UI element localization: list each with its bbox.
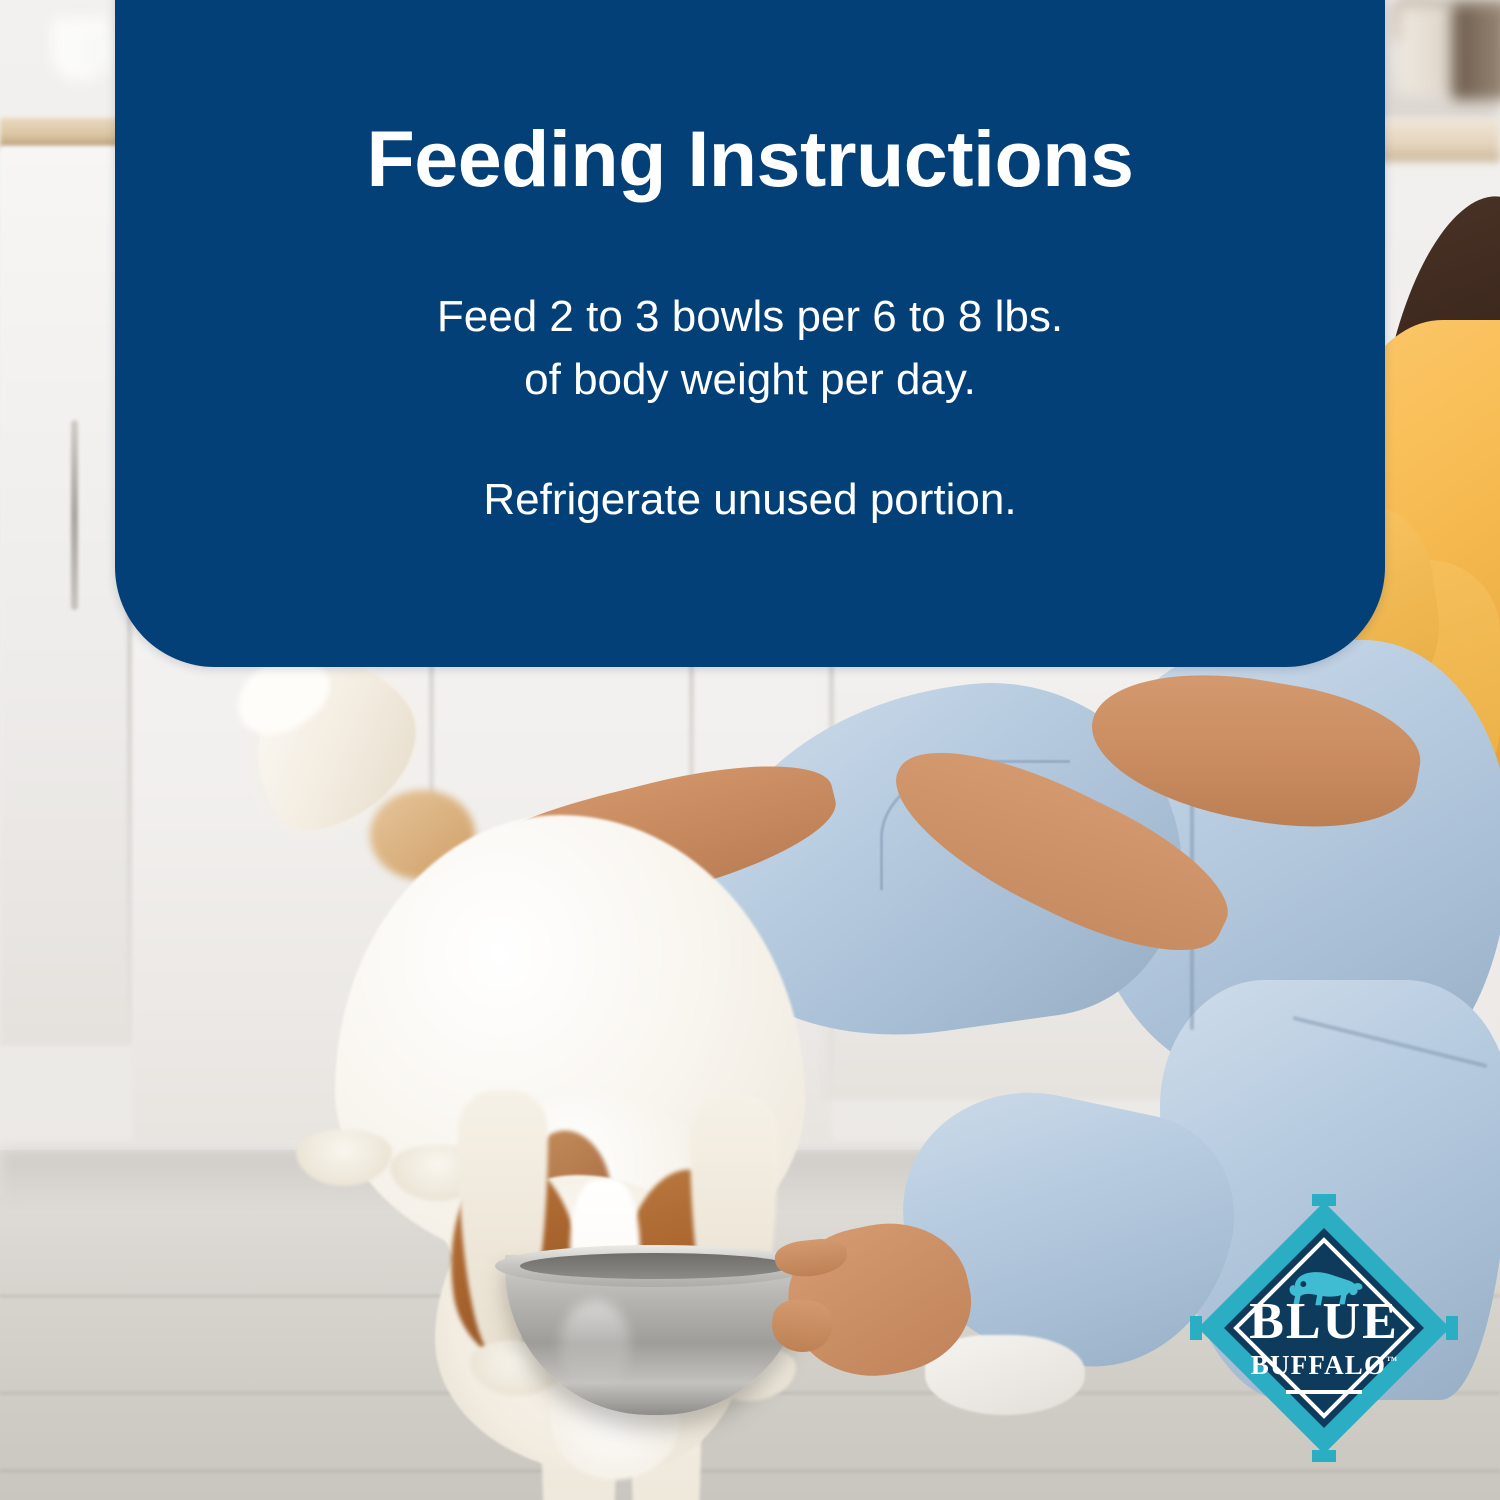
dog-food-bowl-interior [520, 1253, 790, 1279]
bowl-highlight [560, 1300, 630, 1390]
page-title: Feeding Instructions [115, 118, 1385, 200]
blue-buffalo-logo: BLUE BUFFALO™ [1188, 1192, 1460, 1464]
banner-content: Feeding Instructions Feed 2 to 3 bowls p… [115, 0, 1385, 532]
canister-dark [1452, 4, 1500, 100]
product-lifestyle-image: Feeding Instructions Feed 2 to 3 bowls p… [0, 0, 1500, 1500]
logo-rule [1286, 1390, 1362, 1394]
floor-plank-seam-3 [0, 1470, 1500, 1472]
feeding-amount-line-2: of body weight per day. [115, 349, 1385, 411]
cabinet-handle-left [71, 420, 78, 610]
feeding-amount-line-1: Feed 2 to 3 bowls per 6 to 8 lbs. [115, 286, 1385, 348]
mug [52, 18, 110, 80]
feeding-instructions-banner: Feeding Instructions Feed 2 to 3 bowls p… [115, 0, 1385, 667]
storage-instruction: Refrigerate unused portion. [115, 469, 1385, 531]
logo-field [1224, 1228, 1424, 1428]
